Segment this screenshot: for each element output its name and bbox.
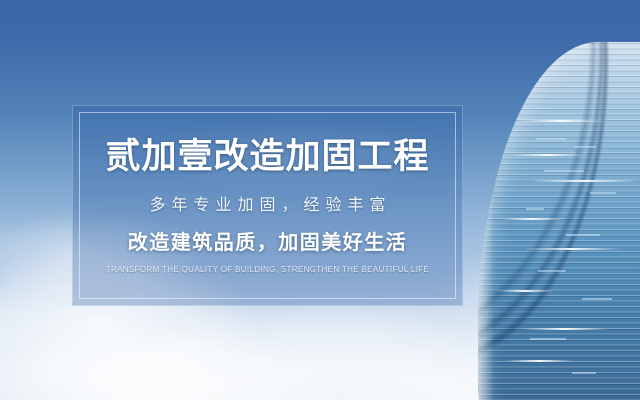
- skyscraper-body: [478, 42, 640, 400]
- skyscraper-window-glints: [478, 42, 640, 400]
- tagline-english: TRANSFORM THE QUALITY OF BUILDING, STREN…: [106, 266, 429, 274]
- tagline-slogan: 改造建筑品质，加固美好生活: [128, 233, 408, 253]
- skyscraper-image: [460, 0, 640, 400]
- headline-panel: 贰加壹改造加固工程 多年专业加固，经验丰富 改造建筑品质，加固美好生活 TRAN…: [72, 105, 463, 306]
- page-title: 贰加壹改造加固工程: [105, 139, 429, 174]
- promo-banner: 贰加壹改造加固工程 多年专业加固，经验丰富 改造建筑品质，加固美好生活 TRAN…: [0, 0, 640, 400]
- subtitle-experience: 多年专业加固，经验丰富: [143, 198, 391, 214]
- headline-panel-content: 贰加壹改造加固工程 多年专业加固，经验丰富 改造建筑品质，加固美好生活 TRAN…: [73, 106, 462, 305]
